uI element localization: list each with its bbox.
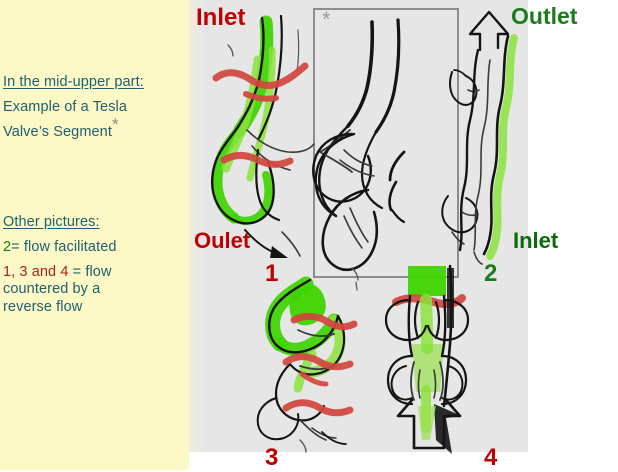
tesla-valve-segment-linework <box>313 20 404 290</box>
slide-canvas: In the mid-upper part: Example of a Tesl… <box>0 0 618 470</box>
figure-number-4: 4 <box>484 444 497 472</box>
label-outlet-figure-1: Oulet <box>194 228 250 254</box>
figure-4-drawing <box>386 266 468 454</box>
label-outlet-top: Outlet <box>511 3 577 30</box>
figure-1-drawing <box>212 16 314 258</box>
label-inlet-top: Inlet <box>196 4 245 32</box>
figure-3-drawing <box>258 280 354 452</box>
figure-number-1: 1 <box>265 260 278 288</box>
figure-number-2: 2 <box>484 260 497 288</box>
figure-2-drawing <box>460 12 514 264</box>
label-inlet-figure-2: Inlet <box>513 228 558 254</box>
figure-number-3: 3 <box>265 444 278 472</box>
